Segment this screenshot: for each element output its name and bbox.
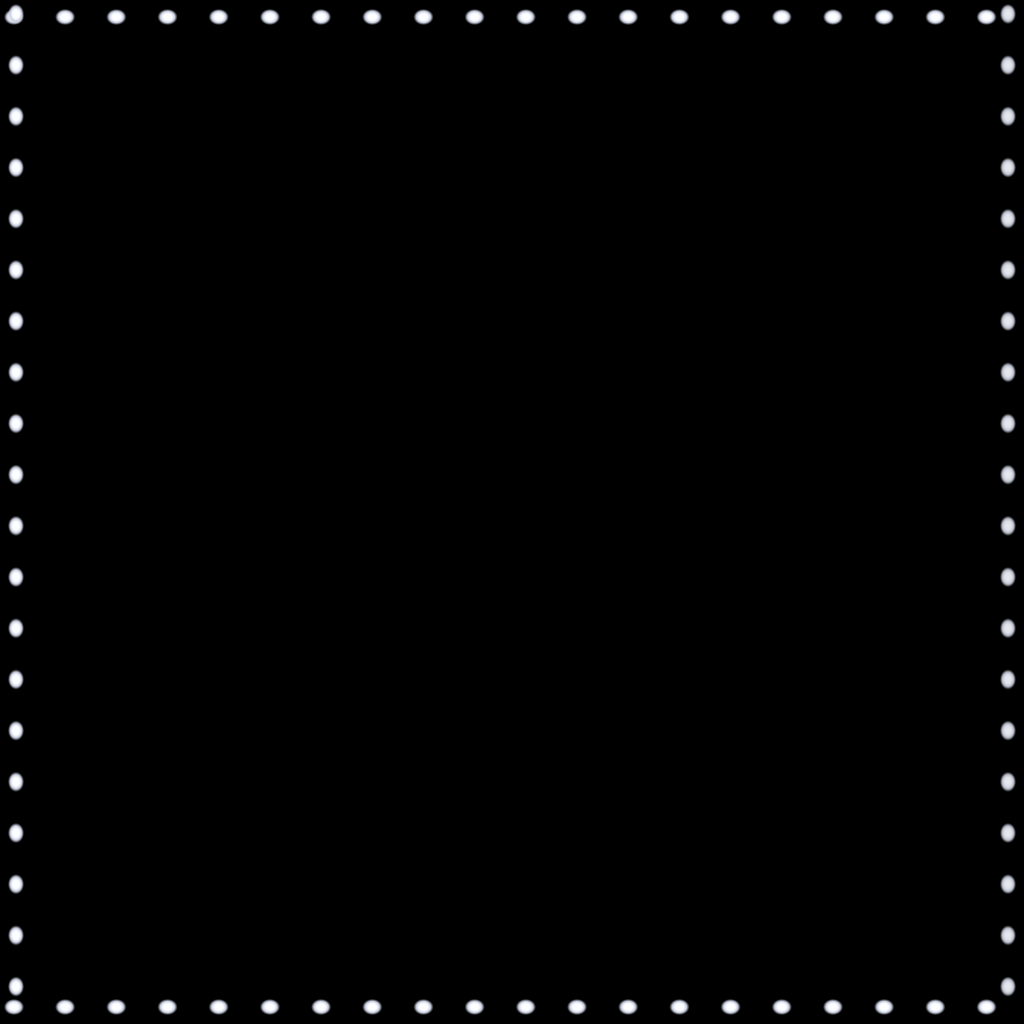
student-character	[274, 422, 416, 822]
ornament	[478, 580, 504, 606]
grades-badge: Grades 5-8	[773, 359, 940, 400]
ornament	[624, 464, 650, 490]
description-line-1: One Day: Creative Writing Assignment--	[252, 840, 771, 877]
grades-badge-label: Grades 5-8	[790, 367, 923, 392]
ornament	[494, 682, 518, 706]
nose	[338, 474, 351, 486]
cheek-right	[360, 480, 375, 489]
hand-left	[278, 666, 300, 688]
tassel-fringe	[821, 646, 867, 724]
tieback-rope	[856, 519, 949, 542]
ornament	[534, 458, 564, 488]
smile	[330, 488, 360, 508]
glasses-icon	[103, 765, 137, 776]
orange-jacket	[290, 568, 400, 686]
tieback-rope	[860, 541, 949, 560]
eye-left	[325, 460, 334, 471]
tassel-head	[822, 610, 866, 650]
product-cover: DRAMA LESSON: MONOLOGUE HOLIDAY THEME	[0, 0, 1024, 1024]
ornament	[572, 418, 606, 452]
logo-text-top: DramaMommaSpeaks	[49, 722, 161, 732]
tassel-head	[110, 610, 154, 650]
tassel-cord	[838, 554, 849, 614]
title-line-3: HOLIDAY THEME	[200, 225, 824, 285]
title-line-1: DRAMA LESSON:	[208, 89, 817, 149]
eye-right	[353, 460, 362, 471]
logo-text-bottom: DramaMommaSpeaks	[49, 818, 161, 828]
document-text-line	[639, 716, 767, 754]
ornament	[566, 560, 596, 590]
tassel-cord	[126, 554, 137, 614]
logo-disc	[63, 733, 147, 817]
cover-inner: DRAMA LESSON: MONOLOGUE HOLIDAY THEME	[18, 18, 1006, 1006]
tieback-rope	[76, 541, 165, 560]
ornament	[558, 614, 596, 652]
cheek-left	[313, 480, 328, 489]
zipper	[362, 588, 366, 672]
red-valance	[36, 38, 988, 64]
ornament	[548, 504, 568, 524]
ornament	[510, 488, 532, 510]
ornament	[508, 554, 540, 586]
description-line-3: Language Arts or Beginning Drama Class	[246, 938, 777, 975]
curtain-tieback-left	[82, 506, 222, 566]
purple-pants	[296, 680, 394, 792]
ornament	[510, 638, 536, 664]
curtain-tieback-right	[802, 506, 942, 566]
mask-pupil-left	[690, 552, 723, 580]
title-banner: DRAMA LESSON: MONOLOGUE HOLIDAY THEME	[38, 64, 986, 310]
title-line-2: MONOLOGUE	[268, 157, 756, 217]
document-text-line	[641, 721, 769, 759]
brand-logo: DramaMommaSpeaks DramaMommaSpeaks	[46, 716, 164, 834]
hand-right	[390, 666, 412, 688]
tassel-fringe	[109, 646, 155, 724]
tieback-rope	[76, 519, 169, 542]
collar	[346, 570, 372, 596]
logo-portrait-body	[91, 789, 147, 817]
description-line-2: Suitable for Creative Dramatics,	[306, 889, 718, 926]
description-banner: One Day: Creative Writing Assignment-- S…	[38, 830, 986, 984]
ornament	[584, 510, 612, 538]
ornament	[624, 568, 652, 596]
